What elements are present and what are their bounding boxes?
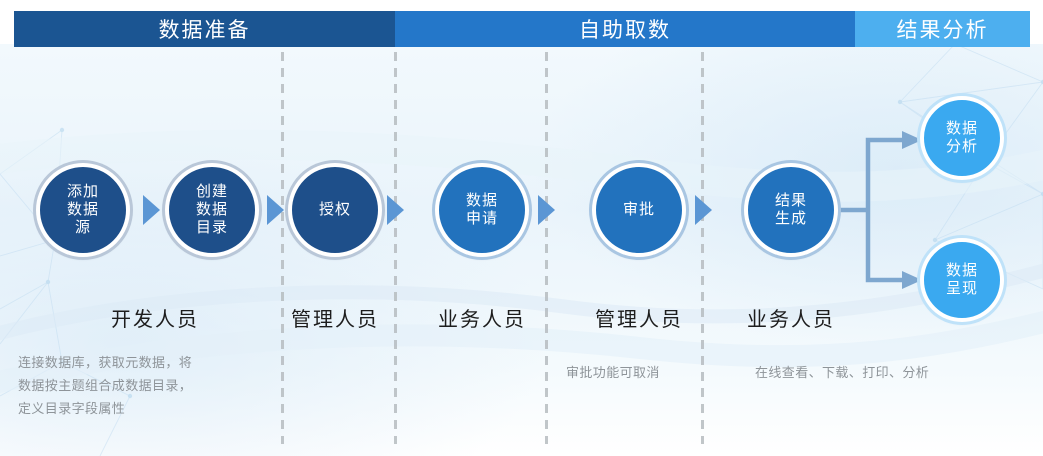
phase-header-data-preparation: 数据准备 <box>14 11 395 47</box>
node-result-generation[interactable]: 结果 生成 <box>744 163 838 257</box>
arrow-authorize-to-request-icon <box>387 195 404 225</box>
node-label-line: 审批 <box>623 201 655 219</box>
node-data-request[interactable]: 数据 申请 <box>435 163 529 257</box>
phase-header-label: 结果分析 <box>897 14 989 44</box>
description-approval: 审批功能可取消 <box>566 362 716 385</box>
node-label-line: 数据 <box>946 120 978 138</box>
arrow-request-to-approval-icon <box>538 195 555 225</box>
role-label-business-1: 业务人员 <box>435 303 529 332</box>
node-label-line: 结果 <box>775 192 807 210</box>
node-data-presentation[interactable]: 数据 呈现 <box>920 238 1004 322</box>
node-data-analysis[interactable]: 数据 分析 <box>920 96 1004 180</box>
description-line: 审批功能可取消 <box>566 362 716 385</box>
node-label-line: 呈现 <box>946 280 978 298</box>
node-label-line: 授权 <box>319 201 351 219</box>
description-line: 连接数据库，获取元数据，将 <box>18 352 268 375</box>
node-create-data-catalog[interactable]: 创建 数据 目录 <box>165 163 259 257</box>
node-label-line: 源 <box>67 219 99 237</box>
role-label-developer: 开发人员 <box>85 303 225 332</box>
description-analysis: 在线查看、下载、打印、分析 <box>755 362 1005 385</box>
description-line: 定义目录字段属性 <box>18 398 268 421</box>
node-label-line: 目录 <box>196 219 228 237</box>
description-line: 数据按主题组合成数据目录， <box>18 375 268 398</box>
node-approval[interactable]: 审批 <box>592 163 686 257</box>
node-label-line: 分析 <box>946 138 978 156</box>
phase-header-result-analysis: 结果分析 <box>855 11 1030 47</box>
node-label-line: 申请 <box>466 210 498 228</box>
lane-divider-3 <box>545 52 548 444</box>
node-add-data-source[interactable]: 添加 数据 源 <box>36 163 130 257</box>
phase-header-self-service-query: 自助取数 <box>395 11 855 47</box>
node-label-line: 添加 <box>67 183 99 201</box>
role-label-admin-2: 管理人员 <box>592 303 686 332</box>
node-label-line: 创建 <box>196 183 228 201</box>
node-label-line: 数据 <box>67 201 99 219</box>
role-label-admin-1: 管理人员 <box>288 303 382 332</box>
phase-header-label: 自助取数 <box>579 14 671 44</box>
node-label-line: 数据 <box>196 201 228 219</box>
lane-divider-2 <box>394 52 397 444</box>
node-authorize[interactable]: 授权 <box>288 163 382 257</box>
arrow-create-to-authorize-icon <box>267 195 284 225</box>
arrow-add-to-create-icon <box>143 195 160 225</box>
description-data-preparation: 连接数据库，获取元数据，将 数据按主题组合成数据目录， 定义目录字段属性 <box>18 352 268 420</box>
role-label-business-2: 业务人员 <box>744 303 838 332</box>
lane-divider-4 <box>701 52 704 444</box>
node-label-line: 生成 <box>775 210 807 228</box>
lane-divider-1 <box>281 52 284 444</box>
description-line: 在线查看、下载、打印、分析 <box>755 362 1005 385</box>
node-label-line: 数据 <box>946 262 978 280</box>
flowchart-diagram: 数据准备 自助取数 结果分析 添加 数据 源 <box>0 0 1043 456</box>
node-label-line: 数据 <box>466 192 498 210</box>
phase-header-bar: 数据准备 自助取数 结果分析 <box>14 11 1030 47</box>
arrow-approval-to-result-icon <box>695 195 712 225</box>
phase-header-label: 数据准备 <box>159 14 251 44</box>
